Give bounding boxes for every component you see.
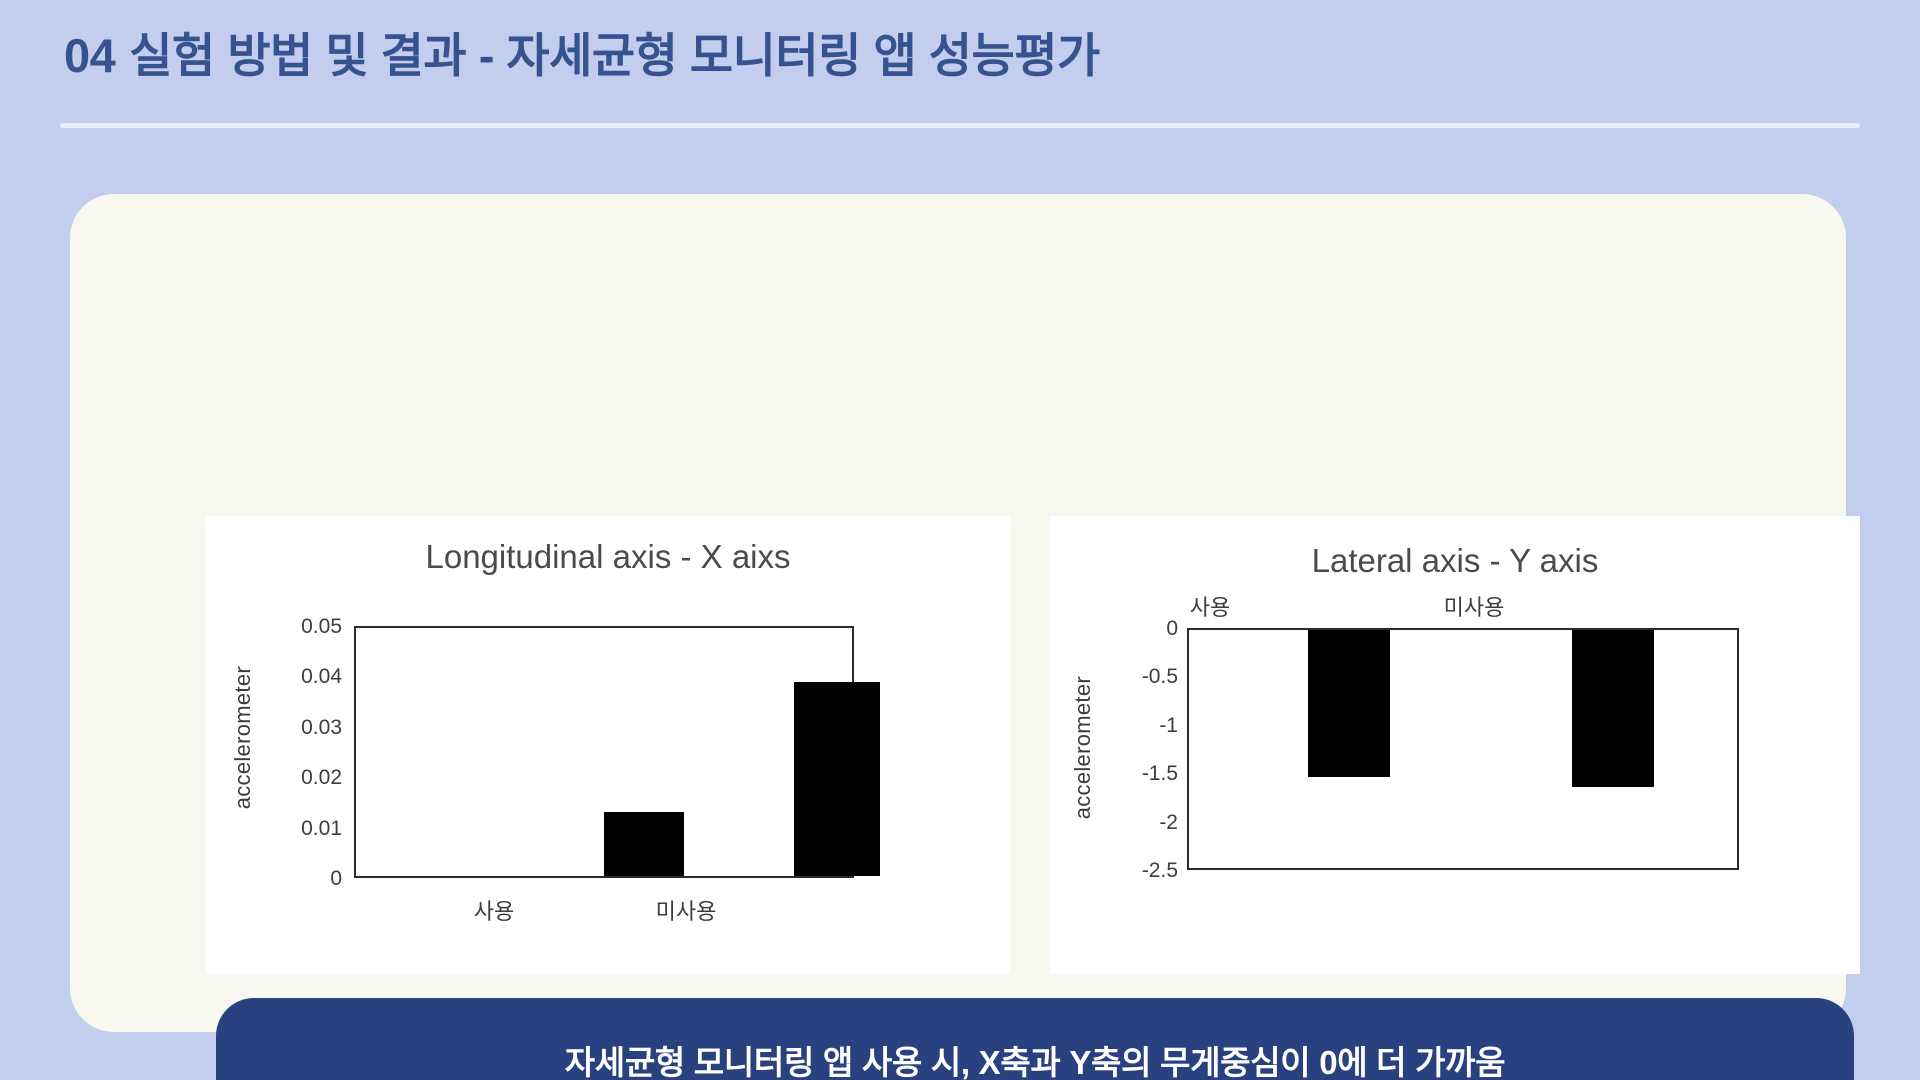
y-tick-label: 0.04: [278, 665, 342, 689]
y-axis-title-longitudinal-x: accelerometer: [230, 666, 256, 809]
chart-title-longitudinal-x: Longitudinal axis - X aixs: [206, 538, 1010, 576]
y-tick-label: -2.5: [1108, 859, 1178, 883]
y-tick-label: -1.5: [1108, 762, 1178, 786]
title-divider: [60, 123, 1860, 128]
y-tick-label: 0.01: [278, 817, 342, 841]
bar-longitudinal-x-1: [794, 682, 880, 876]
chart-panel-lateral-y: Lateral axis - Y axis accelerometer 사용 미…: [1050, 516, 1860, 974]
chart-title-lateral-y: Lateral axis - Y axis: [1050, 542, 1860, 580]
y-tick-label: 0: [278, 867, 342, 891]
content-card: Longitudinal axis - X aixs accelerometer…: [70, 194, 1846, 1032]
slide-root: 04실험 방법 및 결과 - 자세균형 모니터링 앱 성능평가 Longitud…: [0, 0, 1920, 1080]
y-tick-label: -0.5: [1108, 665, 1178, 689]
category-label-longitudinal-x-0: 사용: [434, 894, 554, 926]
y-axis-title-lateral-y: accelerometer: [1070, 676, 1096, 819]
page-title: 04실험 방법 및 결과 - 자세균형 모니터링 앱 성능평가: [64, 22, 1100, 90]
bar-lateral-y-0: [1308, 630, 1390, 777]
y-tick-label: 0.03: [278, 716, 342, 740]
category-label-longitudinal-x-1: 미사용: [626, 894, 746, 926]
y-tick-label: 0.05: [278, 615, 342, 639]
callout-headline: 자세균형 모니터링 앱 사용 시, X축과 Y축의 무게중심이 0에 더 가까움: [565, 1036, 1506, 1080]
category-label-lateral-y-1: 미사용: [1414, 590, 1534, 622]
callout-box: 자세균형 모니터링 앱 사용 시, X축과 Y축의 무게중심이 0에 더 가까움…: [216, 998, 1854, 1080]
plot-area-longitudinal-x: [354, 626, 854, 878]
y-tick-label: -1: [1108, 714, 1178, 738]
plot-area-lateral-y: [1187, 628, 1739, 870]
bar-longitudinal-x-0: [604, 812, 684, 876]
chart-panel-longitudinal-x: Longitudinal axis - X aixs accelerometer…: [206, 516, 1010, 974]
section-number: 04: [64, 29, 115, 82]
y-tick-label: -2: [1108, 811, 1178, 835]
y-tick-label: 0: [1108, 617, 1178, 641]
page-title-text: 실험 방법 및 결과 - 자세균형 모니터링 앱 성능평가: [129, 29, 1099, 82]
bar-lateral-y-1: [1572, 630, 1654, 787]
y-tick-label: 0.02: [278, 766, 342, 790]
